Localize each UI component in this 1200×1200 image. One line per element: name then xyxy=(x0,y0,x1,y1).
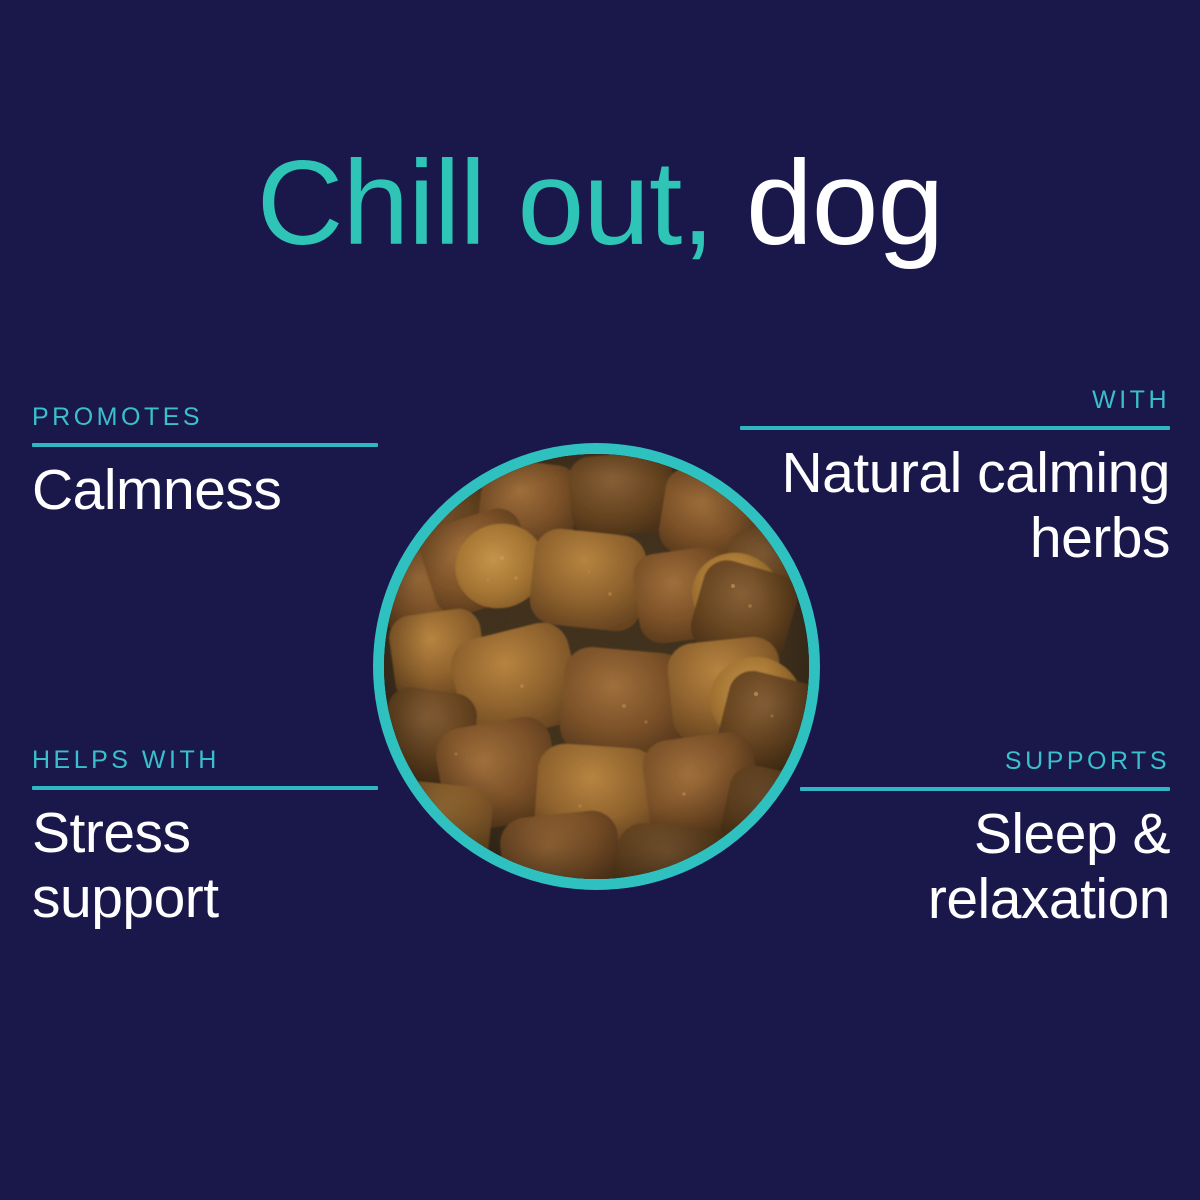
feature-promotes: PROMOTES Calmness xyxy=(32,405,378,523)
feature-with-body: Natural calming herbs xyxy=(740,441,1170,571)
feature-helps-with-divider xyxy=(32,786,378,790)
page-title: Chill out, dog xyxy=(0,143,1200,263)
feature-supports-line-1: Sleep & xyxy=(800,802,1170,867)
feature-supports-body: Sleep & relaxation xyxy=(800,802,1170,932)
feature-supports-kicker: SUPPORTS xyxy=(800,749,1170,774)
dog-treats-photo xyxy=(384,454,809,879)
feature-with-line-1: Natural calming xyxy=(740,441,1170,506)
feature-supports-line-2: relaxation xyxy=(800,867,1170,932)
feature-with: WITH Natural calming herbs xyxy=(740,388,1170,571)
title-accent-text: Chill out, xyxy=(257,136,714,270)
feature-helps-with-line-2: support xyxy=(32,866,378,931)
feature-with-divider xyxy=(740,426,1170,430)
product-infographic: Chill out, dog PROMOTES Calmness WITH Na… xyxy=(0,0,1200,1200)
feature-helps-with-kicker: HELPS WITH xyxy=(32,748,378,773)
feature-with-kicker: WITH xyxy=(740,388,1170,413)
feature-promotes-body: Calmness xyxy=(32,458,378,523)
feature-supports-divider xyxy=(800,787,1170,791)
feature-helps-with-line-1: Stress xyxy=(32,801,378,866)
feature-promotes-line-1: Calmness xyxy=(32,458,378,523)
feature-promotes-kicker: PROMOTES xyxy=(32,405,378,430)
feature-supports: SUPPORTS Sleep & relaxation xyxy=(800,749,1170,932)
feature-helps-with: HELPS WITH Stress support xyxy=(32,748,378,931)
product-photo-ring xyxy=(373,443,820,890)
feature-with-line-2: herbs xyxy=(740,506,1170,571)
feature-promotes-divider xyxy=(32,443,378,447)
title-plain-text: dog xyxy=(746,136,943,270)
feature-helps-with-body: Stress support xyxy=(32,801,378,931)
